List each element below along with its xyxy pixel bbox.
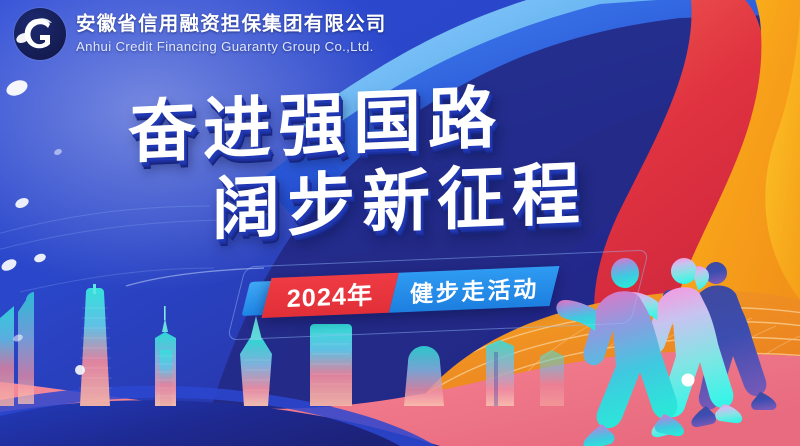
runner-highlight-dot [682,374,695,387]
headline-block: 奋进强国路 阔步新征程 [0,88,800,236]
brand-text-block: 安徽省信用融资担保集团有限公司 Anhui Credit Financing G… [76,15,387,53]
promotional-poster: 安徽省信用融资担保集团有限公司 Anhui Credit Financing G… [0,0,800,446]
company-name-cn: 安徽省信用融资担保集团有限公司 [76,15,387,35]
badge-event-segment: 健步走活动 [388,266,559,313]
badge-event-label: 健步走活动 [410,270,539,309]
company-monogram-g-icon [14,8,66,60]
brand-lockup: 安徽省信用融资担保集团有限公司 Anhui Credit Financing G… [14,8,387,60]
badge-year-label: 2024年 [287,276,374,315]
company-name-en: Anhui Credit Financing Guaranty Group Co… [76,40,387,53]
badge-year-segment: 2024年 [262,273,399,318]
